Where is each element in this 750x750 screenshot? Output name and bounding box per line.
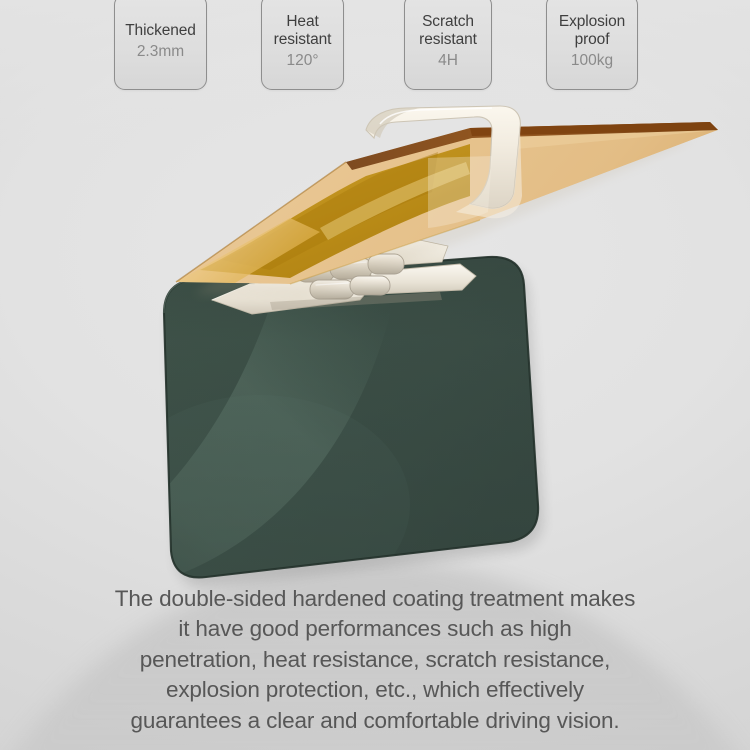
badge-title: Thickened [125, 22, 196, 40]
caption-line: The double-sided hardened coating treatm… [46, 584, 704, 615]
product-image-canvas: Thickened 2.3mm Heat resistant 120° Scra… [0, 0, 750, 750]
badge-heat-resistant: Heat resistant 120° [261, 0, 344, 90]
spec-badge-row: Thickened 2.3mm Heat resistant 120° Scra… [0, 0, 750, 100]
caption-line: explosion protection, etc., which effect… [46, 675, 704, 706]
caption-line: it have good performances such as high [46, 614, 704, 645]
badge-title: Scratch resistant [419, 13, 477, 49]
badge-value: 2.3mm [137, 42, 184, 62]
badge-title: Explosion proof [559, 13, 625, 49]
badge-title: Heat resistant [274, 13, 332, 49]
amber-visor-sheet [170, 100, 730, 300]
badge-value: 4H [438, 51, 458, 71]
badge-thickened: Thickened 2.3mm [114, 0, 207, 90]
product-description-caption: The double-sided hardened coating treatm… [0, 584, 750, 737]
caption-line: penetration, heat resistance, scratch re… [46, 645, 704, 676]
badge-value: 100kg [571, 51, 613, 71]
caption-line: guarantees a clear and comfortable drivi… [46, 706, 704, 737]
badge-value: 120° [286, 51, 318, 71]
badge-scratch-resistant: Scratch resistant 4H [404, 0, 492, 90]
badge-explosion-proof: Explosion proof 100kg [546, 0, 638, 90]
